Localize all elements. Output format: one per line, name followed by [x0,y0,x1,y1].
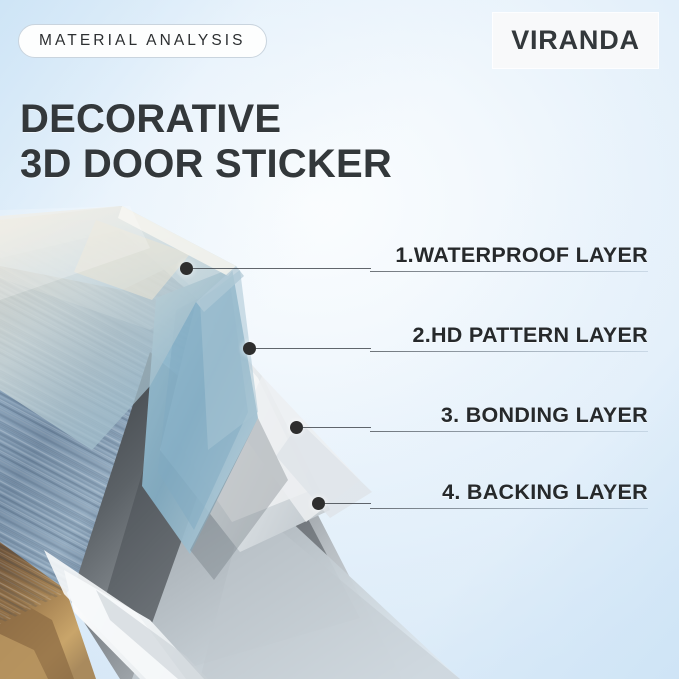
callout-rule-4 [370,508,648,509]
callout-rule-3 [370,431,648,432]
callout-rule-2 [370,351,648,352]
material-analysis-badge: MATERIAL ANALYSIS [18,24,267,58]
callout-dot-3 [290,421,303,434]
callout-rule-1 [370,271,648,272]
callout-dot-1 [180,262,193,275]
infographic-canvas: MATERIAL ANALYSIS DECORATIVE 3D DOOR STI… [0,0,679,679]
callout-label-bonding-layer: 3. BONDING LAYER [441,403,648,428]
callout-label-hd-pattern-layer: 2.HD PATTERN LAYER [412,323,648,348]
callout-leader-1 [193,268,371,269]
brand-logo-plate: VIRANDA [493,13,658,68]
callout-leader-3 [303,427,371,428]
callout-label-backing-layer: 4. BACKING LAYER [442,480,648,505]
callout-dot-4 [312,497,325,510]
callout-leader-2 [256,348,371,349]
brand-name: VIRANDA [511,25,640,56]
callout-label-waterproof-layer: 1.WATERPROOF LAYER [395,243,648,268]
sticker-artwork [0,150,460,679]
callout-dot-2 [243,342,256,355]
callout-leader-4 [325,503,371,504]
page-title-line-1: DECORATIVE [20,97,392,142]
page-title-line-2: 3D DOOR STICKER [20,142,392,187]
badge-label: MATERIAL ANALYSIS [39,32,246,50]
page-title: DECORATIVE 3D DOOR STICKER [20,97,392,187]
